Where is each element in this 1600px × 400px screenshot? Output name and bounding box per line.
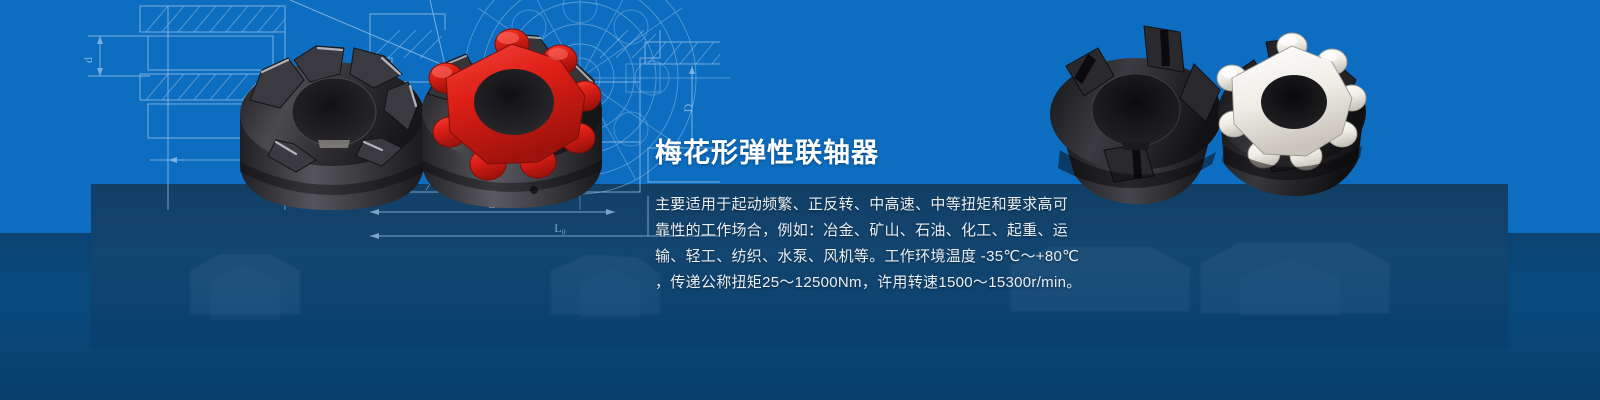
description-line-3: 输、轻工、纺织、水泵、风机等。工作环境温度 -35℃～+80℃ [655,244,1075,270]
page-title: 梅花形弹性联轴器 [655,136,1075,170]
description-line-2: 靠性的工作场合，例如：冶金、矿山、石油、化工、起重、运 [655,218,1075,244]
product-banner: d D S L L L₀ [0,0,1600,400]
banner-copy: 梅花形弹性联轴器 主要适用于起动频繁、正反转、中高速、中等扭矩和要求高可 靠性的… [655,136,1075,296]
description-line-4: ，传递公称扭矩25～12500Nm，许用转速1500～15300r/min。 [655,270,1075,296]
background-dark-band-fade [91,300,1508,348]
product-description: 主要适用于起动频繁、正反转、中高速、中等扭矩和要求高可 靠性的工作场合，例如：冶… [655,192,1075,296]
description-line-1: 主要适用于起动频繁、正反转、中高速、中等扭矩和要求高可 [655,192,1075,218]
